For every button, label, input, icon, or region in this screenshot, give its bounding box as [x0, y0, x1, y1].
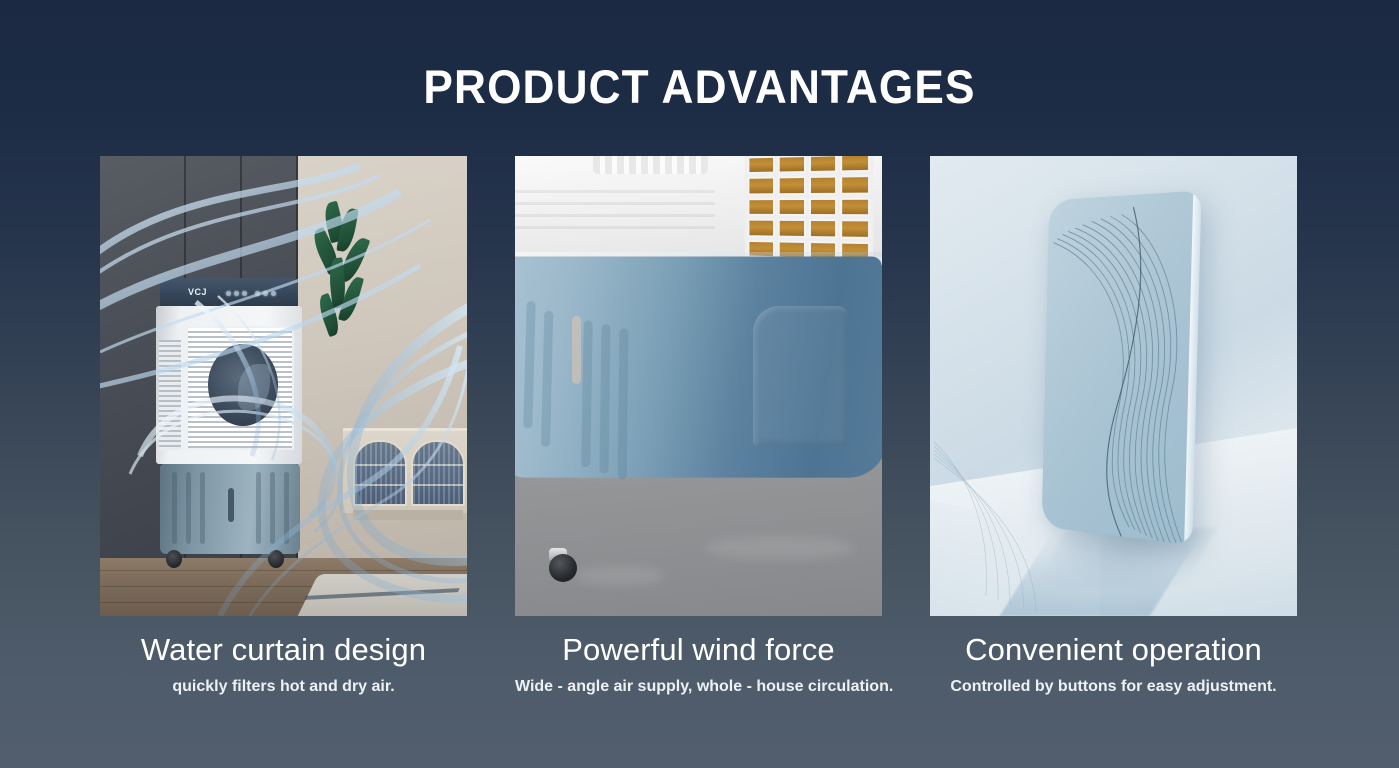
caption-row: Water curtain design quickly filters hot… — [100, 630, 1299, 698]
caption-convenient-operation: Convenient operation Controlled by butto… — [930, 630, 1297, 698]
room-cabinet — [343, 428, 467, 513]
control-button-group-left — [226, 291, 247, 296]
caption-subtitle: Wide - angle air supply, whole - house c… — [515, 676, 882, 698]
air-cooler-unit: VCJ — [156, 278, 302, 578]
front-grille — [186, 326, 294, 450]
cooler-body — [156, 306, 302, 464]
control-button[interactable] — [255, 291, 260, 296]
water-level-strip — [572, 316, 581, 384]
tank-handle — [228, 488, 234, 522]
caption-title: Water curtain design — [100, 630, 467, 670]
top-vent — [593, 156, 708, 174]
side-vent — [159, 340, 181, 450]
control-panel: VCJ — [160, 278, 298, 308]
water-tank-base — [160, 464, 300, 554]
advantage-image-water-curtain: VCJ — [100, 156, 467, 616]
control-button-group-right — [255, 291, 276, 296]
product-advantages-banner: PRODUCT ADVANTAGES — [0, 0, 1399, 768]
cooling-pad-grille — [745, 156, 874, 264]
page-title: PRODUCT ADVANTAGES — [42, 58, 1357, 116]
caster-wheel — [268, 550, 284, 568]
panel-wave-lines — [1042, 190, 1202, 545]
control-button[interactable] — [226, 291, 231, 296]
cabinet-base — [353, 510, 463, 520]
advantage-image-convenient-operation — [930, 156, 1297, 616]
caster-wheel — [549, 554, 577, 582]
control-button[interactable] — [234, 291, 239, 296]
potted-plant — [316, 202, 372, 344]
caption-wind-force: Powerful wind force Wide - angle air sup… — [515, 630, 882, 698]
advantage-card-row: VCJ — [100, 156, 1299, 616]
caption-water-curtain: Water curtain design quickly filters hot… — [100, 630, 467, 698]
caption-title: Convenient operation — [930, 630, 1297, 670]
brand-logo: VCJ — [188, 287, 207, 297]
tank-recess-panel — [753, 306, 848, 446]
caster-wheel — [166, 550, 182, 568]
advantage-image-wind-force — [515, 156, 882, 616]
caption-subtitle: quickly filters hot and dry air. — [100, 676, 467, 698]
fan — [208, 344, 278, 426]
caption-subtitle: Controlled by buttons for easy adjustmen… — [930, 676, 1297, 698]
control-button[interactable] — [263, 291, 268, 296]
control-button[interactable] — [242, 291, 247, 296]
control-button[interactable] — [271, 291, 276, 296]
caption-title: Powerful wind force — [515, 630, 882, 670]
glass-panel — [1042, 190, 1202, 545]
